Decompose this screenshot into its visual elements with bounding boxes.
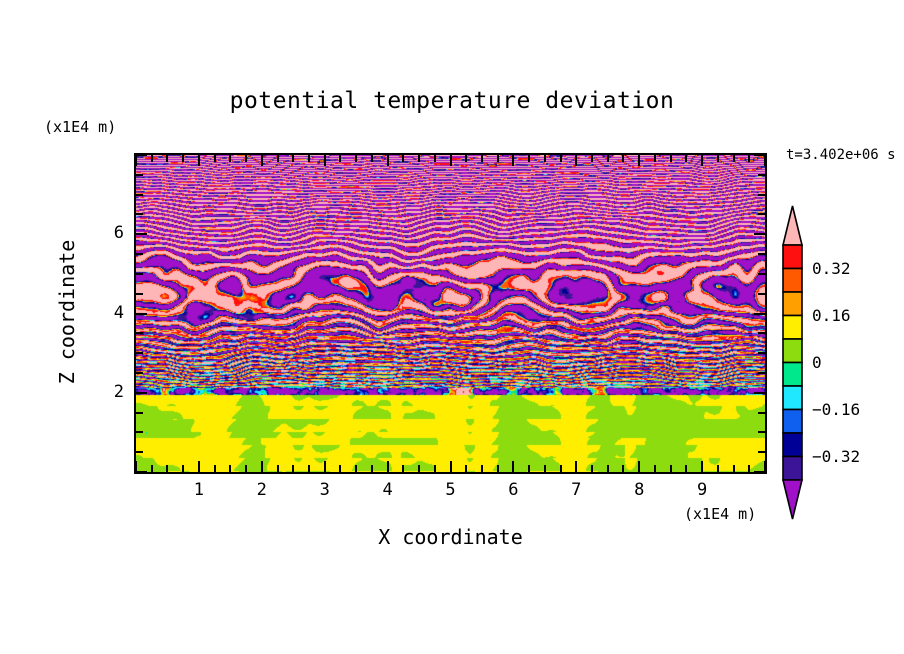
x-tick-top <box>245 155 247 162</box>
x-tick-bottom <box>339 465 341 472</box>
x-tick-top <box>748 155 750 162</box>
x-tick-bottom <box>481 465 483 472</box>
y-tick-left <box>136 412 143 414</box>
y-tick-right <box>758 412 765 414</box>
y-tick-label: 4 <box>84 303 124 323</box>
x-tick-top <box>685 155 687 162</box>
x-tick-bottom <box>748 465 750 472</box>
x-tick-top <box>512 155 514 166</box>
y-tick-right <box>758 174 765 176</box>
y-tick-right <box>754 471 765 473</box>
x-tick-top <box>151 155 153 162</box>
x-tick-bottom <box>717 465 719 472</box>
plot-area <box>134 153 767 474</box>
y-tick-left <box>136 471 147 473</box>
y-tick-left <box>136 273 143 275</box>
x-tick-top <box>701 155 703 166</box>
colorbar-tick-label: 0.16 <box>812 306 851 325</box>
x-axis-units-label: (x1E4 m) <box>684 505 756 523</box>
x-tick-label: 3 <box>305 480 345 500</box>
y-tick-left <box>136 194 143 196</box>
y-axis-units-label: (x1E4 m) <box>44 118 116 136</box>
y-tick-left <box>136 372 143 374</box>
colorbar-band <box>783 339 802 363</box>
x-tick-bottom <box>512 461 514 472</box>
colorbar-band <box>783 316 802 340</box>
x-tick-top <box>355 155 357 162</box>
x-tick-bottom <box>528 465 530 472</box>
y-axis-title: Z coordinate <box>55 222 79 402</box>
x-tick-top <box>277 155 279 162</box>
y-tick-left <box>136 174 143 176</box>
colorbar-band <box>783 269 802 293</box>
figure-canvas: potential temperature deviation (x1E4 m)… <box>0 0 904 654</box>
x-tick-bottom <box>685 465 687 472</box>
x-tick-bottom <box>418 465 420 472</box>
y-tick-left <box>136 213 143 215</box>
x-tick-top <box>418 155 420 162</box>
y-tick-left <box>136 352 143 354</box>
y-tick-left <box>136 451 143 453</box>
y-tick-right <box>758 293 765 295</box>
x-tick-bottom <box>465 465 467 472</box>
x-tick-bottom <box>371 465 373 472</box>
x-tick-bottom <box>402 465 404 472</box>
x-tick-bottom <box>324 461 326 472</box>
x-tick-top <box>528 155 530 162</box>
x-tick-bottom <box>701 461 703 472</box>
y-tick-left <box>136 313 147 315</box>
x-tick-bottom <box>622 465 624 472</box>
x-tick-top <box>387 155 389 166</box>
x-tick-top <box>402 155 404 162</box>
y-tick-right <box>754 154 765 156</box>
x-tick-top <box>717 155 719 162</box>
x-tick-top <box>339 155 341 162</box>
y-tick-label: 2 <box>84 382 124 402</box>
x-tick-top <box>654 155 656 162</box>
colorbar-band <box>783 363 802 387</box>
contour-field <box>136 155 765 472</box>
x-tick-top <box>560 155 562 162</box>
colorbar-band <box>783 292 802 316</box>
x-tick-top <box>733 155 735 162</box>
x-tick-top <box>465 155 467 162</box>
x-tick-top <box>198 155 200 166</box>
x-tick-top <box>670 155 672 162</box>
x-tick-top <box>182 155 184 162</box>
x-tick-label: 2 <box>242 480 282 500</box>
x-tick-top <box>575 155 577 166</box>
x-tick-bottom <box>733 465 735 472</box>
y-tick-right <box>758 213 765 215</box>
timestamp-annotation: t=3.402e+06 s <box>786 147 896 163</box>
x-tick-bottom <box>277 465 279 472</box>
x-tick-label: 4 <box>368 480 408 500</box>
x-tick-top <box>607 155 609 162</box>
y-tick-left <box>136 431 143 433</box>
x-tick-top <box>324 155 326 166</box>
x-tick-label: 5 <box>431 480 471 500</box>
y-tick-right <box>758 332 765 334</box>
x-tick-bottom <box>560 465 562 472</box>
x-tick-top <box>371 155 373 162</box>
colorbar-extend-high <box>783 206 802 245</box>
x-tick-top <box>591 155 593 162</box>
y-tick-right <box>754 392 765 394</box>
x-tick-bottom <box>607 465 609 472</box>
x-tick-top <box>638 155 640 166</box>
x-tick-bottom <box>182 465 184 472</box>
colorbar-band <box>783 433 802 457</box>
colorbar-tick-label: 0 <box>812 353 822 372</box>
x-tick-label: 7 <box>556 480 596 500</box>
x-tick-top <box>622 155 624 162</box>
colorbar-extend-low <box>783 480 802 519</box>
x-tick-bottom <box>355 465 357 472</box>
y-tick-right <box>758 372 765 374</box>
x-tick-bottom <box>654 465 656 472</box>
x-tick-bottom <box>434 465 436 472</box>
x-tick-bottom <box>229 465 231 472</box>
y-tick-right <box>754 233 765 235</box>
y-tick-left <box>136 332 143 334</box>
x-tick-bottom <box>591 465 593 472</box>
colorbar-band <box>783 457 802 481</box>
y-tick-right <box>758 273 765 275</box>
x-tick-bottom <box>544 465 546 472</box>
x-tick-top <box>214 155 216 162</box>
x-tick-bottom <box>292 465 294 472</box>
x-tick-bottom <box>198 461 200 472</box>
x-tick-top <box>481 155 483 162</box>
colorbar-tick-label: 0.32 <box>812 259 851 278</box>
x-tick-top <box>434 155 436 162</box>
y-tick-left <box>136 154 147 156</box>
x-tick-label: 1 <box>179 480 219 500</box>
x-tick-bottom <box>166 465 168 472</box>
y-tick-right <box>758 253 765 255</box>
x-tick-bottom <box>450 461 452 472</box>
x-tick-top <box>166 155 168 162</box>
x-tick-bottom <box>261 461 263 472</box>
x-tick-bottom <box>387 461 389 472</box>
x-tick-bottom <box>575 461 577 472</box>
y-tick-right <box>758 194 765 196</box>
x-tick-label: 6 <box>493 480 533 500</box>
x-axis-title: X coordinate <box>134 525 767 549</box>
colorbar-tick-label: −0.32 <box>812 447 860 466</box>
y-tick-left <box>136 392 147 394</box>
colorbar-band <box>783 386 802 410</box>
x-tick-bottom <box>497 465 499 472</box>
x-tick-top <box>229 155 231 162</box>
x-tick-top <box>308 155 310 162</box>
y-tick-right <box>758 431 765 433</box>
x-tick-top <box>292 155 294 162</box>
x-tick-label: 8 <box>619 480 659 500</box>
colorbar-band <box>783 410 802 434</box>
x-tick-top <box>544 155 546 162</box>
y-tick-right <box>758 352 765 354</box>
y-tick-right <box>758 451 765 453</box>
x-tick-top <box>497 155 499 162</box>
page-title: potential temperature deviation <box>0 88 904 114</box>
y-tick-right <box>754 313 765 315</box>
colorbar-band <box>783 245 802 269</box>
y-tick-left <box>136 233 147 235</box>
x-tick-top <box>261 155 263 166</box>
colorbar-tick-label: −0.16 <box>812 400 860 419</box>
colorbar: 0.320.160−0.16−0.32 <box>775 205 815 520</box>
y-tick-label: 6 <box>84 223 124 243</box>
y-tick-left <box>136 293 143 295</box>
x-tick-bottom <box>638 461 640 472</box>
x-tick-bottom <box>214 465 216 472</box>
x-tick-top <box>450 155 452 166</box>
x-tick-label: 9 <box>682 480 722 500</box>
x-tick-top <box>135 155 137 166</box>
x-tick-bottom <box>308 465 310 472</box>
x-tick-top <box>764 155 766 166</box>
y-tick-left <box>136 253 143 255</box>
x-tick-bottom <box>151 465 153 472</box>
x-tick-bottom <box>245 465 247 472</box>
x-tick-bottom <box>670 465 672 472</box>
